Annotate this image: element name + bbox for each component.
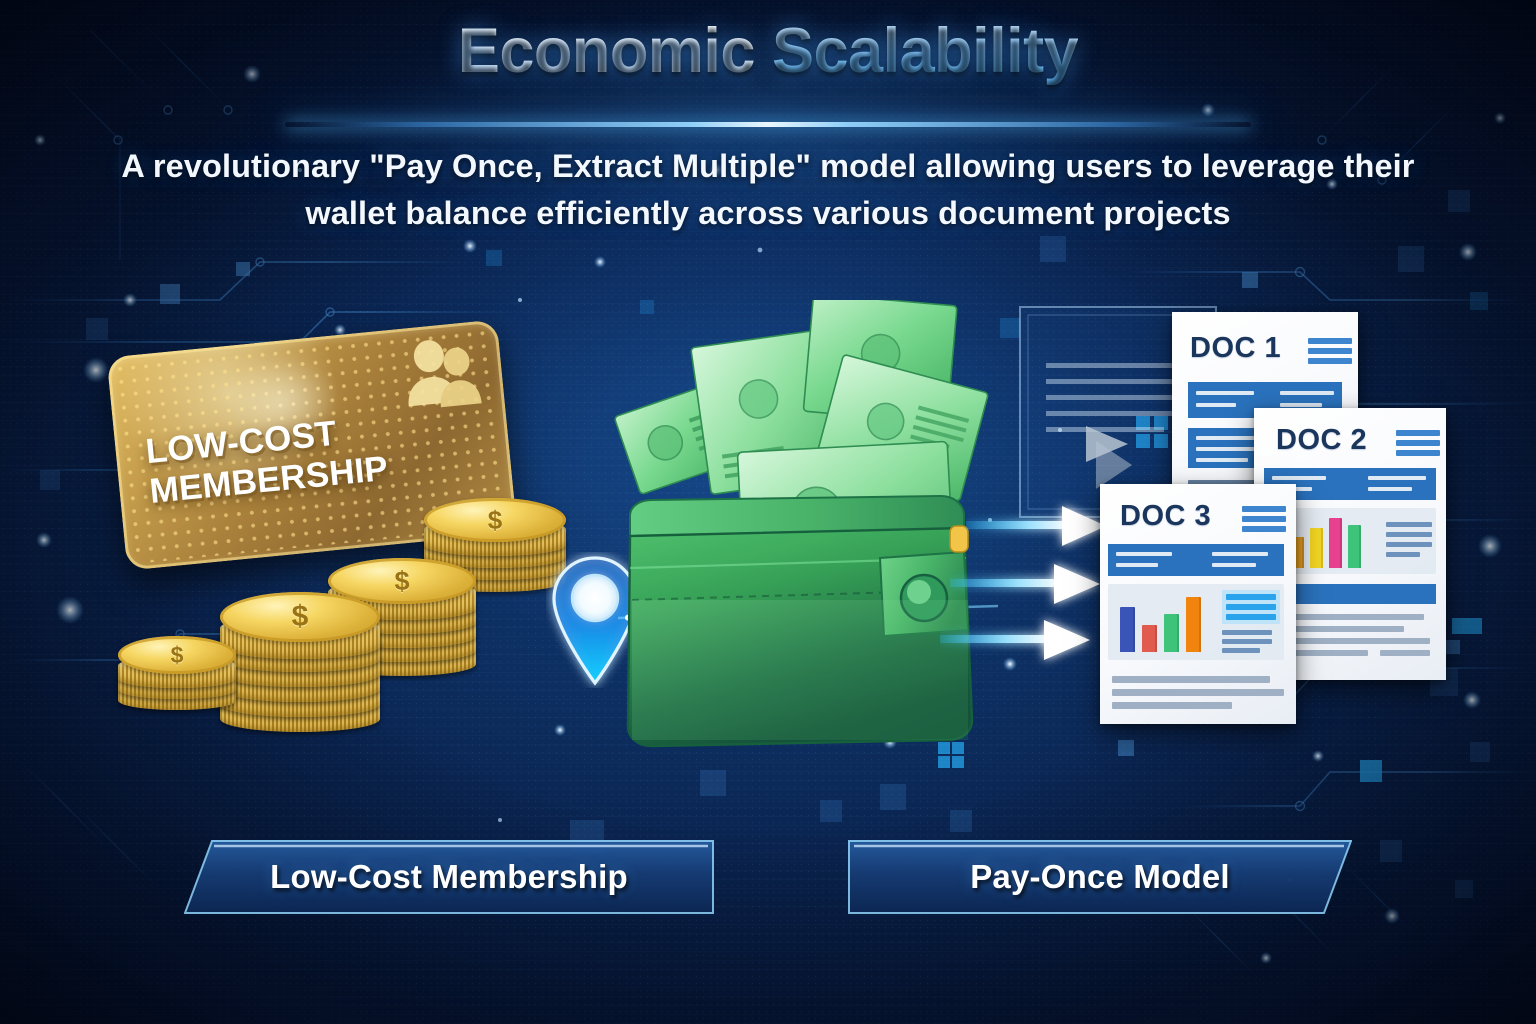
- doc-1-header-lines: [1308, 338, 1352, 364]
- doc-2-bar: [1329, 518, 1342, 568]
- doc-3-bar: [1164, 614, 1179, 652]
- doc-3-text-line: [1112, 689, 1252, 696]
- title-divider: [285, 122, 1251, 127]
- doc-2-text-line: [1380, 650, 1430, 656]
- doc-3-text-line: [1112, 702, 1232, 709]
- banner-pay-once-model[interactable]: Pay-Once Model: [848, 840, 1352, 914]
- background-arrow-icon: [1082, 416, 1142, 477]
- doc-2-bar: [1310, 528, 1323, 568]
- header: Economic Scalability: [0, 0, 1536, 84]
- doc-3-chart-legend-top: [1222, 590, 1280, 624]
- doc-3-bar: [1142, 625, 1157, 652]
- coin-dollar-symbol: $: [118, 636, 236, 674]
- coin-stack-front-left: $: [118, 620, 236, 720]
- doc-3-chart-plot: [1116, 594, 1216, 652]
- subtitle: A revolutionary "Pay Once, Extract Multi…: [118, 143, 1418, 237]
- doc-3-header-lines: [1242, 506, 1286, 532]
- doc-3-chart-legend-bottom: [1222, 630, 1272, 653]
- infographic-canvas: Economic Scalability A revolutionary "Pa…: [0, 0, 1536, 1024]
- doc-2-bar: [1348, 525, 1361, 568]
- banner-left-label: Low-Cost Membership: [270, 858, 628, 896]
- flow-arrow-3: [940, 612, 1100, 668]
- banner-right-label: Pay-Once Model: [970, 858, 1230, 896]
- coin-dollar-symbol: $: [220, 592, 380, 642]
- doc-3-text-line: [1112, 676, 1270, 683]
- doc-3-bar: [1120, 607, 1135, 652]
- coin-dollar-symbol: $: [424, 498, 566, 542]
- banner-low-cost-membership[interactable]: Low-Cost Membership: [184, 840, 714, 914]
- doc-3-title: DOC 3: [1120, 500, 1211, 533]
- page-title-part-2: Scalability: [772, 16, 1078, 86]
- doc-3-chart: [1108, 584, 1284, 660]
- flow-arrow-1: [966, 498, 1116, 554]
- coin-stack-center: $: [220, 592, 380, 738]
- doc-2-chart-legend: [1386, 522, 1432, 557]
- doc-3-text-line: [1250, 689, 1284, 696]
- doc-3-bar: [1186, 597, 1201, 652]
- doc-2-header-lines: [1396, 430, 1440, 456]
- page-title-part-1: Economic: [458, 16, 755, 86]
- page-title: Economic Scalability: [0, 18, 1536, 84]
- doc-1-title: DOC 1: [1190, 332, 1281, 365]
- flow-arrow-2: [950, 556, 1110, 612]
- doc-3-banner: [1108, 544, 1284, 576]
- document-card-doc-3[interactable]: DOC 3: [1100, 484, 1296, 724]
- green-wallet-with-cash[interactable]: $: [612, 300, 992, 750]
- doc-2-title: DOC 2: [1276, 424, 1367, 457]
